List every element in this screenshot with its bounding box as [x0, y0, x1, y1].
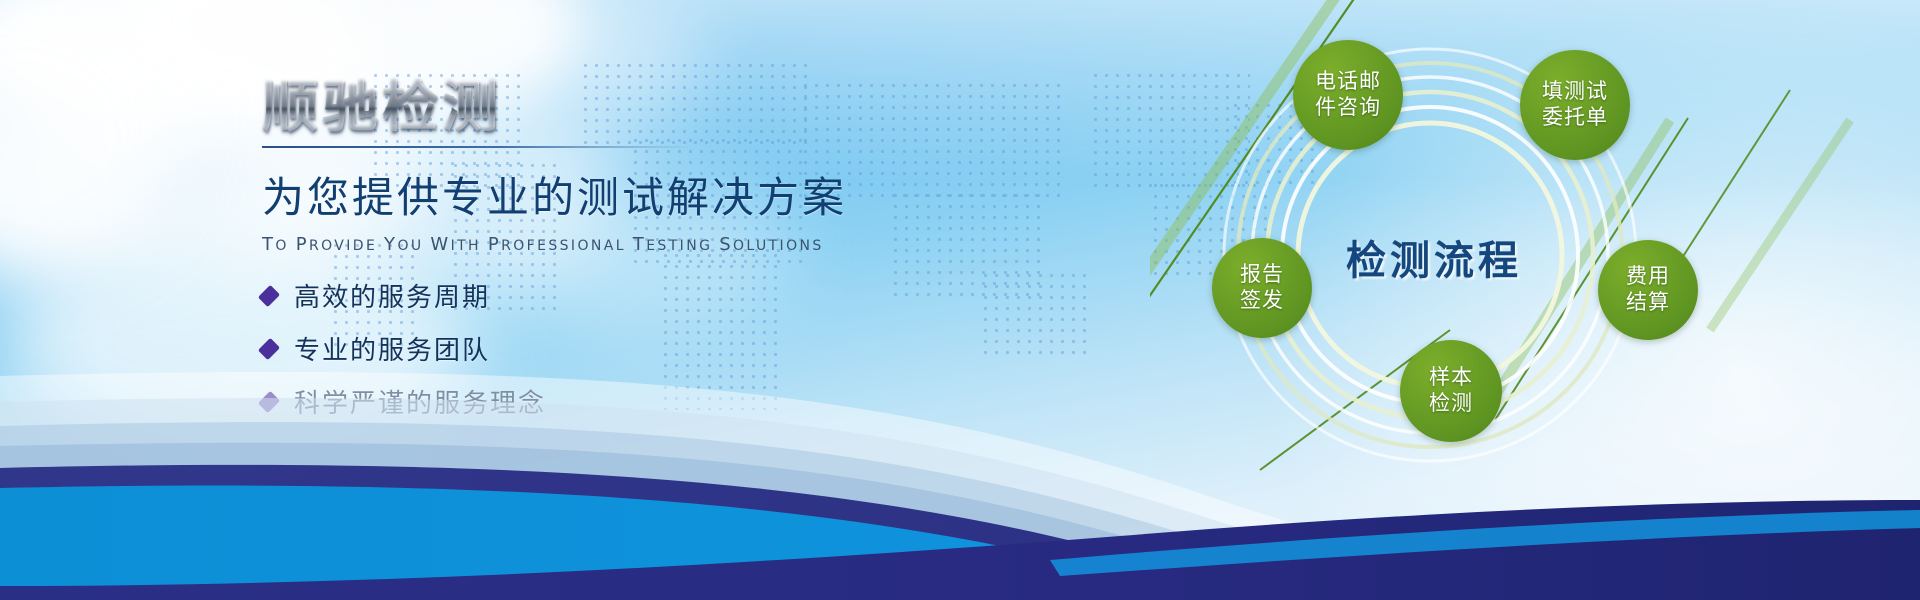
process-node-label: 报告签发: [1240, 262, 1284, 313]
diamond-bullet-icon: [258, 284, 280, 306]
list-item: 高效的服务周期: [262, 277, 962, 314]
brand-underline: [262, 146, 692, 148]
process-node-consult[interactable]: 电话邮件咨询: [1293, 40, 1403, 150]
wave-decoration: [0, 350, 1920, 600]
list-item-label: 高效的服务周期: [294, 277, 490, 314]
process-center-label: 检测流程: [1346, 228, 1522, 286]
tagline-english: TO PROVIDE YOU WITH PROFESSIONAL TESTING…: [262, 234, 962, 255]
tagline: 为您提供专业的测试解决方案: [262, 164, 962, 225]
process-node-label: 费用结算: [1626, 264, 1670, 315]
process-node-report-issue[interactable]: 报告签发: [1212, 238, 1312, 338]
process-node-label: 电话邮件咨询: [1315, 69, 1381, 120]
brand-title: 顺驰检测: [262, 80, 962, 136]
process-node-settlement[interactable]: 费用结算: [1598, 240, 1698, 340]
process-node-order-form[interactable]: 填测试委托单: [1520, 50, 1630, 160]
process-node-label: 填测试委托单: [1542, 79, 1608, 130]
marketing-banner: 顺驰检测 为您提供专业的测试解决方案 TO PROVIDE YOU WITH P…: [0, 0, 1920, 600]
